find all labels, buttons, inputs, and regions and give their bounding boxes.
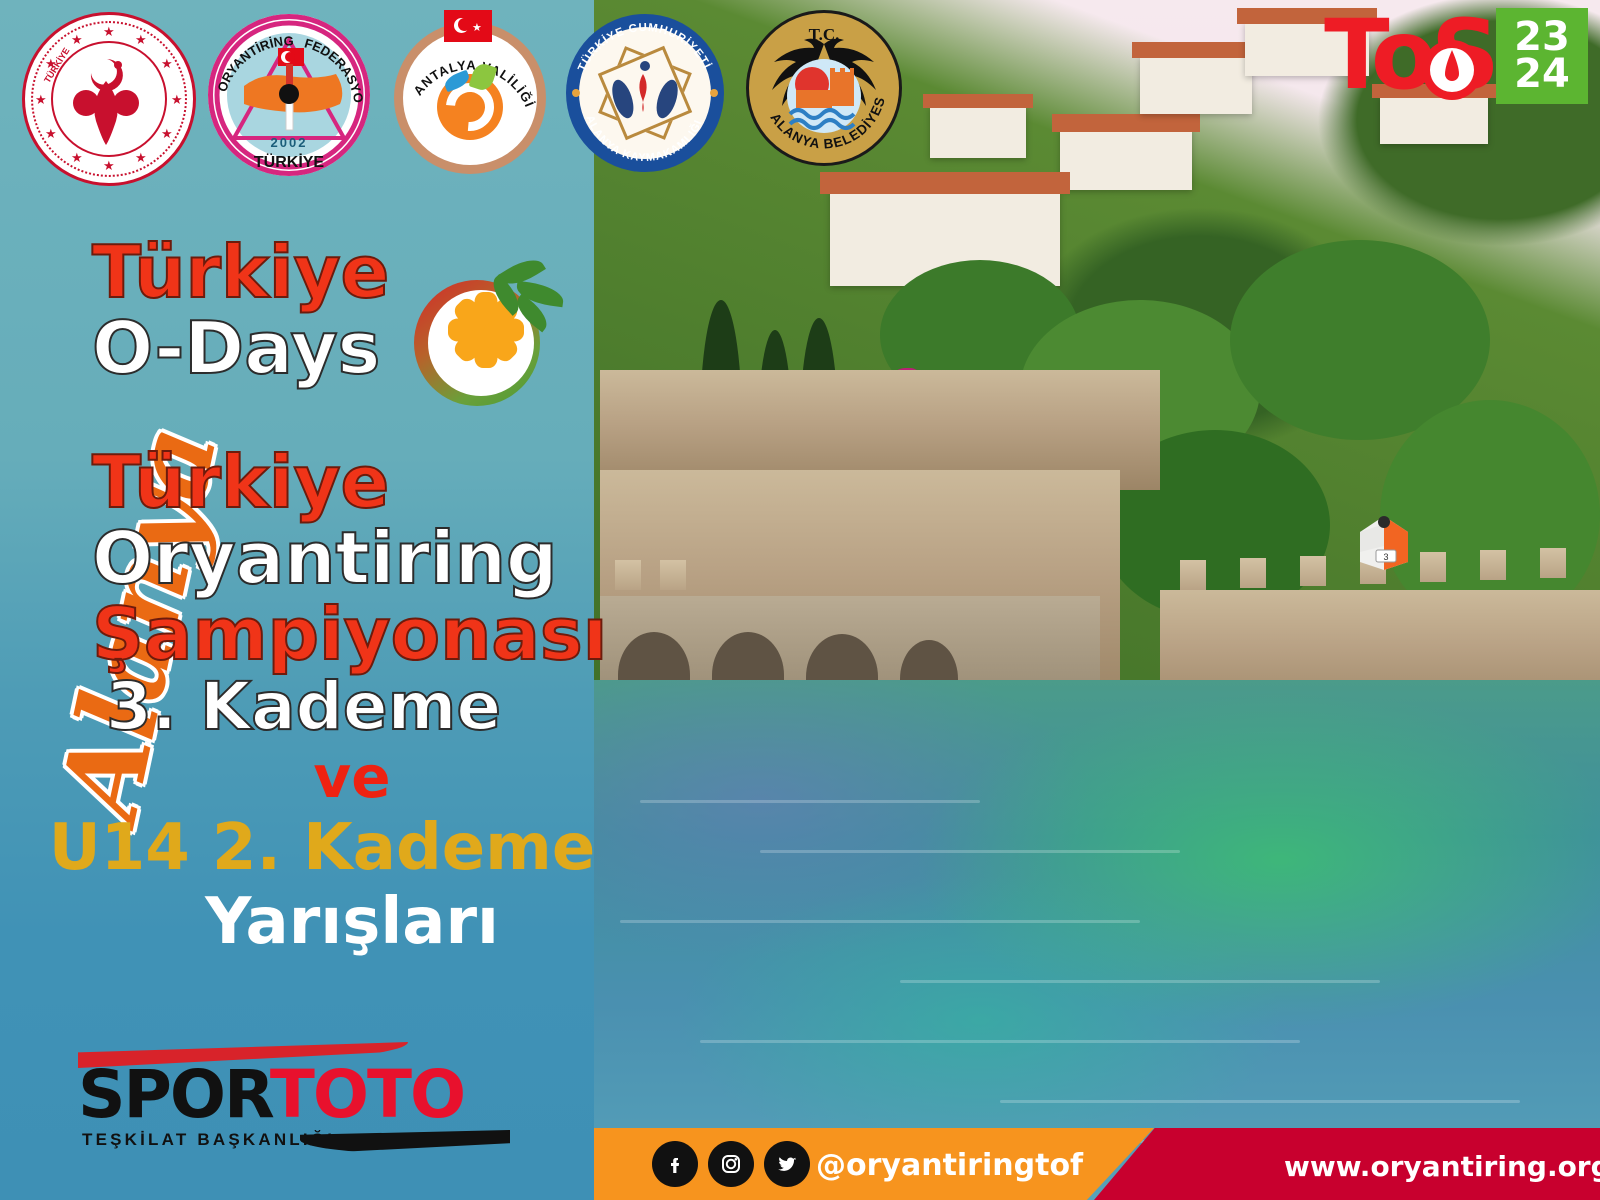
event-poster: 3	[0, 0, 1600, 1200]
title-line-6: 3. Kademe	[106, 674, 612, 740]
orienteering-control-flag-icon: 3	[1356, 512, 1412, 572]
social-icons-group	[652, 1141, 810, 1187]
antalya-governorship-seal: ★ ANTALYA VALİLİĞİ	[394, 22, 546, 174]
tos-logo: ToS 23 24	[1324, 8, 1588, 104]
spor-toto-word2: TOTO	[270, 1056, 464, 1133]
title-line-1: Türkiye	[92, 236, 612, 308]
title-line-2: O-Days	[92, 312, 612, 384]
alanya-district-governorship-seal: TÜRKİYE CUMHURİYETİ ALANYA KAYMAKAMLIĞI	[566, 14, 724, 172]
svg-text:TÜRKİYE: TÜRKİYE	[254, 152, 325, 171]
svg-text:3: 3	[1383, 552, 1388, 562]
ministry-youth-sports-seal: TÜRKİYE ★ ★ ★ ★ ★ ★ ★ ★ ★ ★ ★ ★	[22, 12, 196, 186]
spor-toto-word1: SPOR	[78, 1056, 270, 1133]
compass-needle-drop-icon	[1420, 38, 1484, 102]
tos-year-bottom: 24	[1514, 56, 1570, 93]
svg-text:ALANYA KAYMAKAMLIĞI: ALANYA KAYMAKAMLIĞI	[583, 114, 705, 164]
title-line-7: ve	[92, 748, 612, 806]
spor-toto-logo: SPORTOTO TEŞKİLAT BAŞKANLIĞI	[70, 1038, 490, 1153]
social-handle[interactable]: @oryantiringtof	[816, 1148, 1083, 1183]
facebook-icon[interactable]	[652, 1141, 698, 1187]
instagram-icon[interactable]	[708, 1141, 754, 1187]
orienteering-federation-badge: 2002 TÜRKİYE ORYANTİRİNG FEDERASYONU	[208, 14, 370, 176]
title-line-3: Türkiye	[92, 446, 612, 518]
alanya-municipality-seal: T.C.	[746, 10, 902, 166]
svg-text:2002: 2002	[271, 135, 308, 150]
spor-toto-wordmark: SPORTOTO	[78, 1062, 464, 1128]
spor-toto-subtitle: TEŞKİLAT BAŞKANLIĞI	[82, 1130, 335, 1150]
title-line-8: U14 2. Kademe	[32, 816, 612, 880]
title-line-4: Oryantiring	[92, 522, 612, 594]
event-title-block: Türkiye O-Days Türkiye Oryantiring Şampi…	[92, 236, 612, 958]
tos-year-badge: 23 24	[1496, 8, 1588, 104]
website-url[interactable]: www.oryantiring.org.tr	[1284, 1150, 1600, 1183]
twitter-icon[interactable]	[764, 1141, 810, 1187]
footer-banner: @oryantiringtof www.oryantiring.org.tr	[594, 1128, 1600, 1200]
title-line-5: Şampiyonası	[92, 598, 612, 670]
sponsor-logo-bar: TÜRKİYE ★ ★ ★ ★ ★ ★ ★ ★ ★ ★ ★ ★	[0, 0, 1600, 175]
title-line-9: Yarışları	[92, 890, 612, 954]
